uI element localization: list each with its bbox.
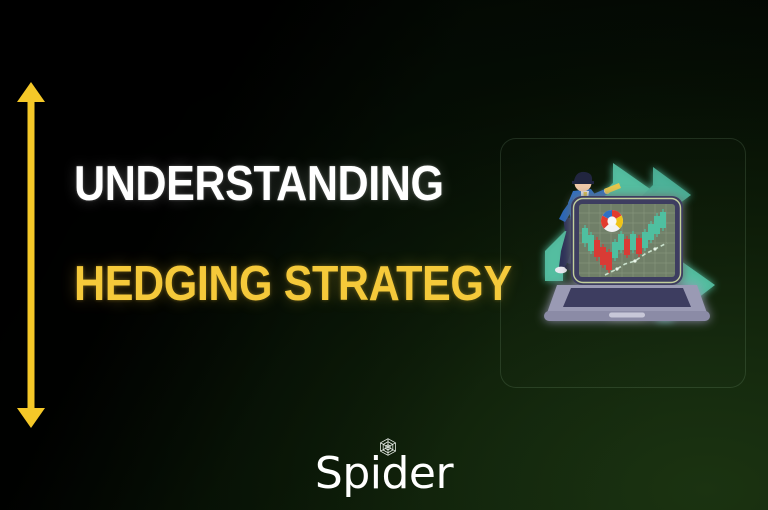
spider-web-icon xyxy=(378,437,398,457)
page-title: UNDERSTANDING HEDGING STRATEGY xyxy=(74,160,494,309)
trading-laptop-illustration xyxy=(501,139,745,387)
title-line-secondary: HEDGING STRATEGY xyxy=(74,260,444,309)
brand-logo: Spider xyxy=(0,452,768,496)
banner-root: UNDERSTANDING HEDGING STRATEGY xyxy=(0,0,768,510)
donut-pie-chart-icon xyxy=(601,210,623,232)
title-line-primary: UNDERSTANDING xyxy=(74,160,444,209)
illustration-card xyxy=(500,138,746,388)
brand-name: Spider xyxy=(315,452,453,496)
double-headed-vertical-arrow-icon xyxy=(16,82,46,428)
